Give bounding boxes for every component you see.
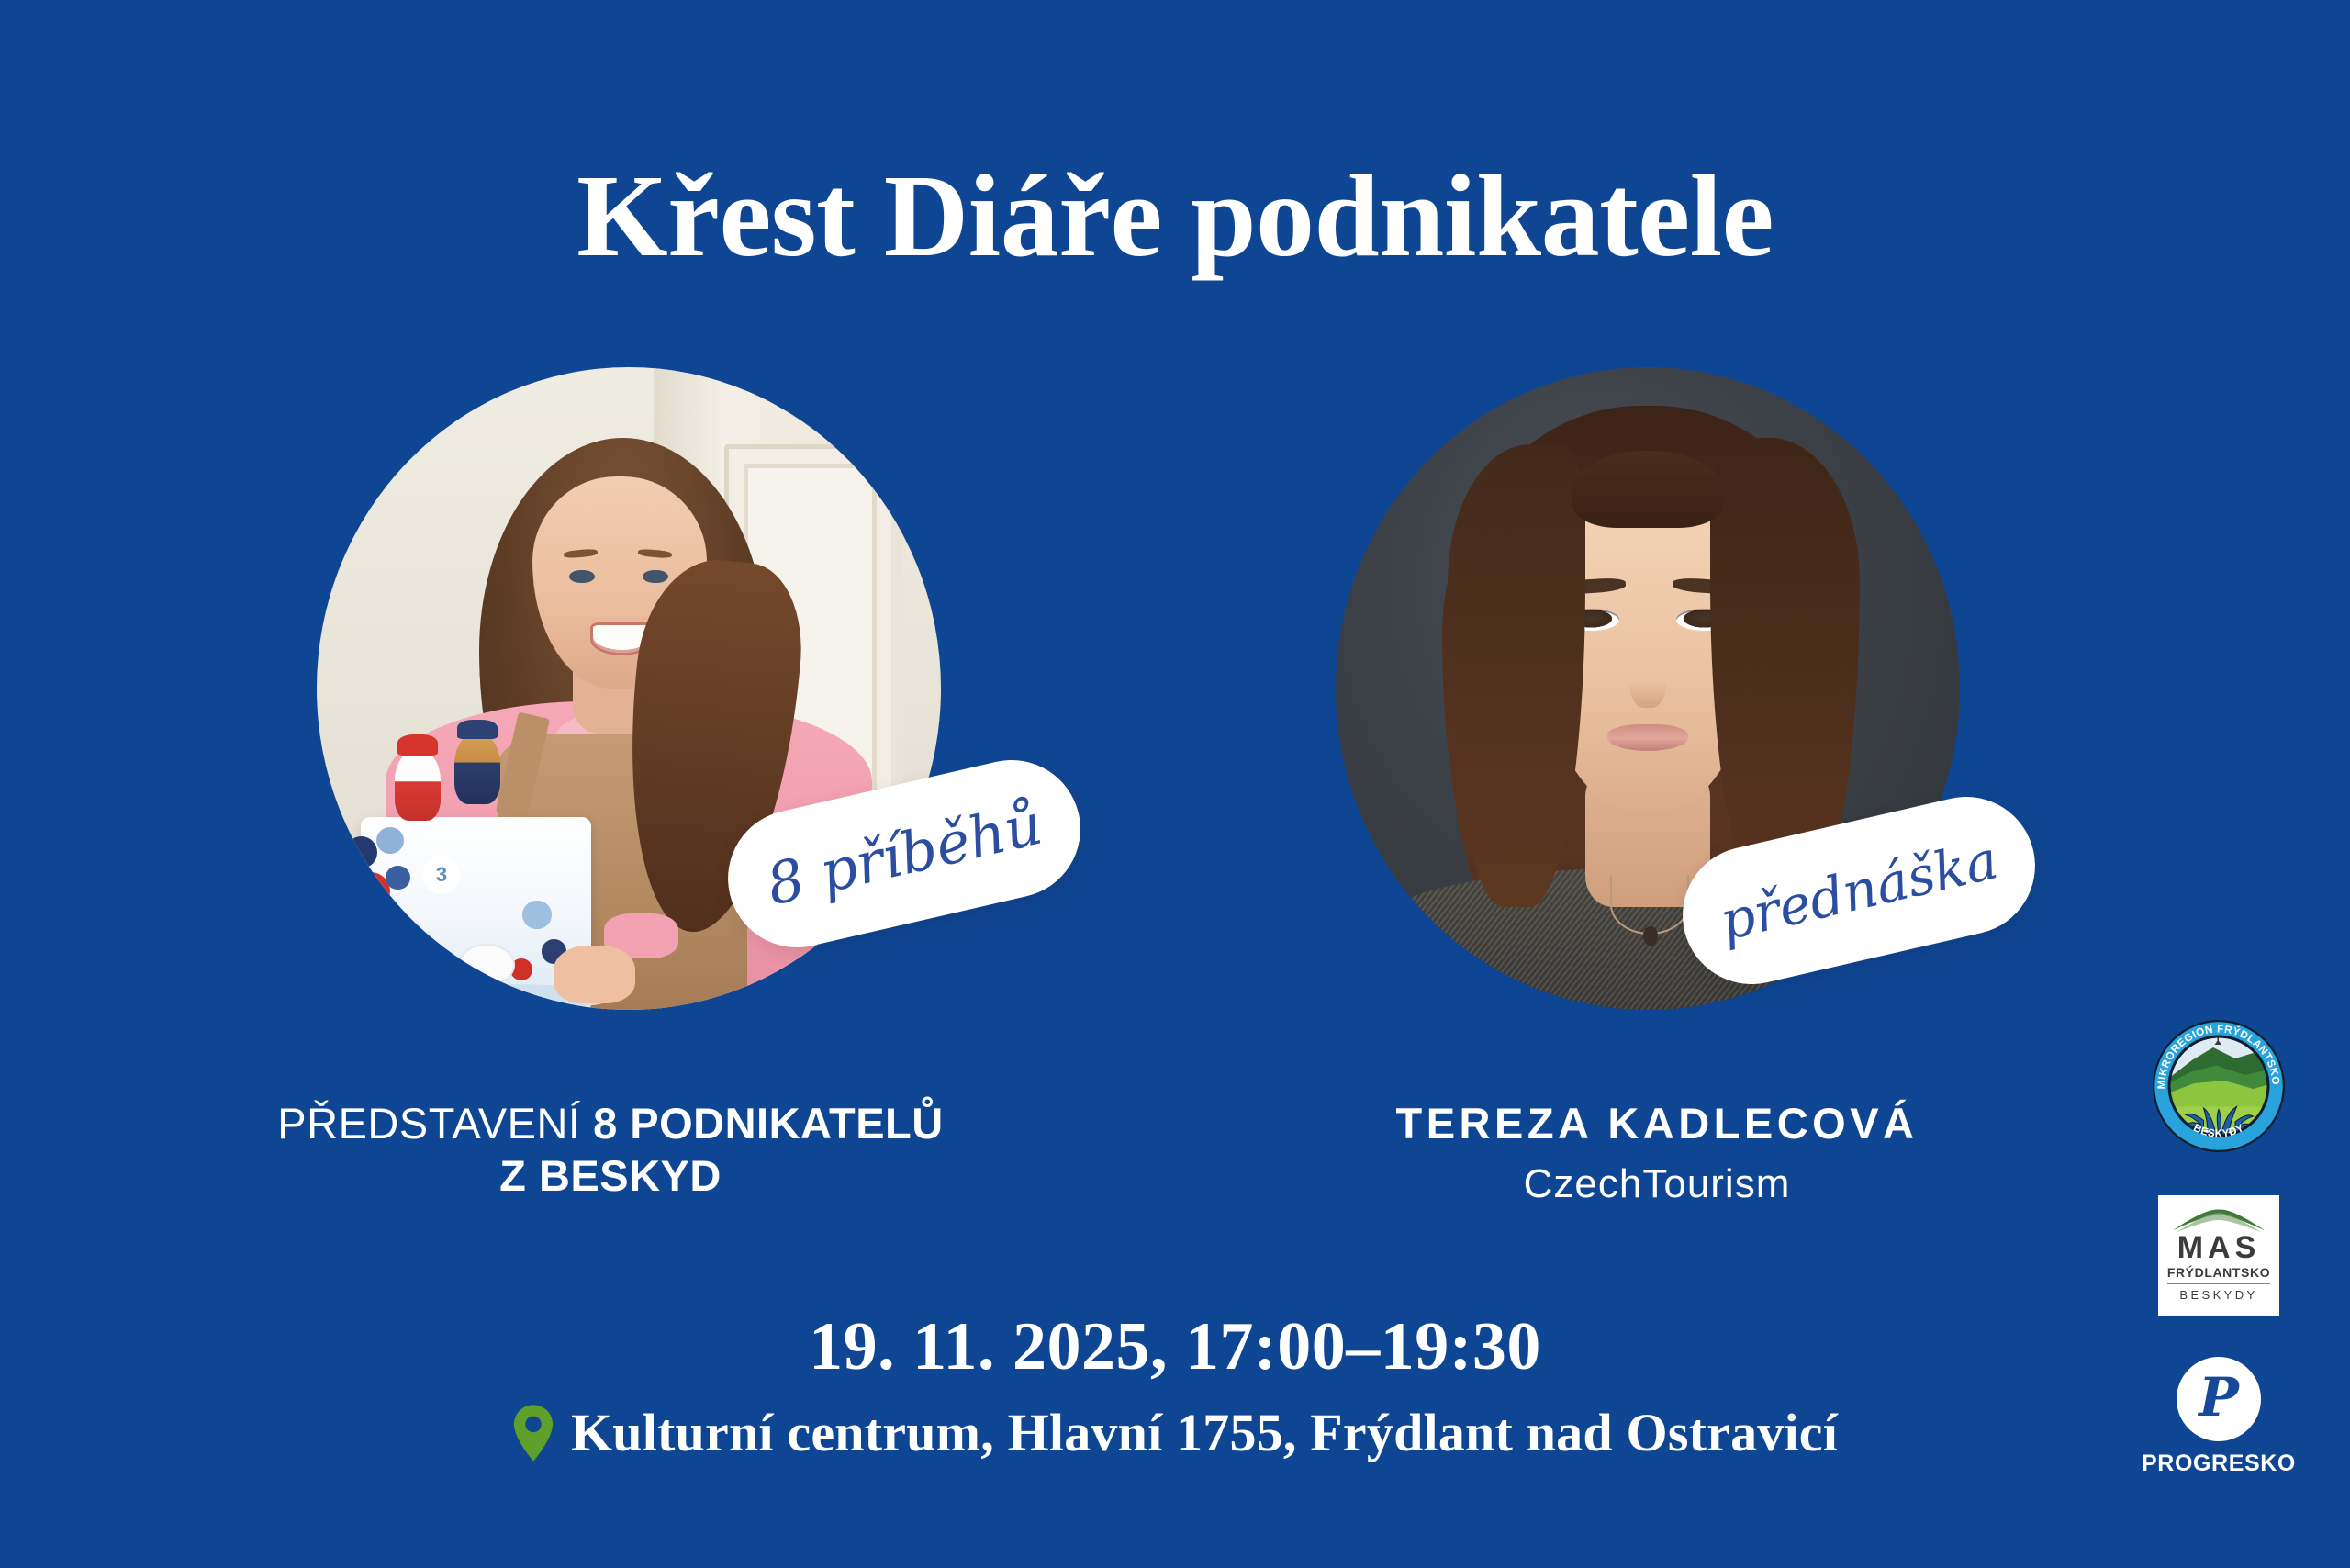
portrait-pendant [1643,926,1658,946]
baker-eye-right [643,570,668,584]
page-title: Křest Diáře podnikatele [0,154,2350,277]
speaker-organization: CzechTourism [1258,1157,2056,1211]
mas-wordmark: MAS [2177,1232,2261,1263]
event-venue-label: Kulturní centrum, Hlavní 1755, Frýdlant … [571,1402,1838,1463]
poster-canvas: Křest Diáře podnikatele [0,0,2350,1568]
logo-mikroregion-frydlantsko-beskydy: MIKROREGION FRÝDLANTSKO- BESKYDY [2150,1017,2288,1155]
baker-hand [554,946,634,1003]
logo-mas-frydlantsko-beskydy: MAS FRÝDLANTSKO BESKYDY [2158,1195,2279,1316]
caption-left-line1: PŘEDSTAVENÍ 8 PODNIKATELŮ [170,1097,1051,1149]
portrait-nose [1629,650,1667,708]
mas-subtitle-1: FRÝDLANTSKO [2167,1263,2270,1284]
logo-progresko: P PROGRESKO [2142,1357,2296,1477]
cake-balloon [522,901,551,929]
caption-left-line2: Z BESKYD [170,1149,1051,1202]
caption-left-bold: 8 PODNIKATELŮ [593,1099,944,1148]
cake-balloon [386,866,410,890]
cake-balloon [376,827,404,854]
portrait-lips [1607,724,1688,751]
badge-lecture-label: přednáška [1714,828,2003,952]
cake-balloon [510,958,532,980]
cake-number-badge: 3 [423,856,461,894]
caption-left: PŘEDSTAVENÍ 8 PODNIKATELŮ Z BESKYD [170,1097,1051,1203]
cake-topper-dalmatian [395,750,441,821]
badge-stories-label: 8 příběhů [760,790,1047,918]
progresko-p-icon: P [2199,1371,2239,1424]
cake-name-tag [460,946,513,984]
map-pin-icon [512,1405,554,1462]
partner-logos: MIKROREGION FRÝDLANTSKO- BESKYDY MAS FRÝ… [2132,1017,2306,1477]
cake-balloon [364,913,390,939]
progresko-mark-circle: P [2177,1357,2261,1441]
mas-subtitle-2: BESKYDY [2179,1286,2257,1305]
cake-balloon [345,836,377,868]
caption-left-prefix: PŘEDSTAVENÍ [277,1099,593,1148]
cake-balloon [351,872,389,911]
progresko-wordmark: PROGRESKO [2142,1450,2296,1477]
speaker-name: TEREZA KADLECOVÁ [1258,1097,2056,1151]
cake-topper-chase [454,734,500,804]
caption-right: TEREZA KADLECOVÁ CzechTourism [1258,1097,2056,1211]
event-datetime: 19. 11. 2025, 17:00–19:30 [0,1308,2350,1386]
baker-eye-left [569,570,595,584]
portrait-hair-part [1572,451,1722,528]
event-venue: Kulturní centrum, Hlavní 1755, Frýdlant … [0,1402,2350,1463]
